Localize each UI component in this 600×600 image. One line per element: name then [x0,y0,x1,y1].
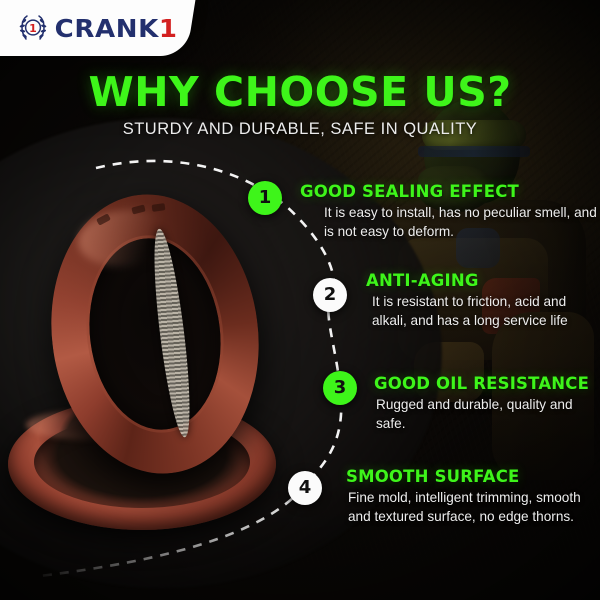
feature-item-2: 2 ANTI-AGING It is resistant to friction… [366,272,600,331]
feature-title-1: GOOD SEALING EFFECT [300,183,600,201]
feature-desc-1: It is easy to install, has no peculiar s… [300,204,600,242]
infographic-canvas: 1 CRANK1 WHY CHOOSE US? STURDY AND DURAB… [0,0,600,600]
brand-logo-banner[interactable]: 1 CRANK1 [0,0,195,56]
feature-item-1: 1 GOOD SEALING EFFECT It is easy to inst… [300,183,600,242]
laurel-wreath-number-one-icon: 1 [16,11,50,45]
brand-name-accent: 1 [159,14,178,43]
feature-badge-1: 1 [248,181,282,215]
feature-badge-3: 3 [323,371,357,405]
brand-wordmark: CRANK1 [55,16,178,41]
feature-item-3: 3 GOOD OIL RESISTANCE Rugged and durable… [374,375,600,434]
brand-name-main: CRANK [55,14,159,43]
feature-desc-3: Rugged and durable, quality and safe. [374,396,600,434]
feature-badge-4: 4 [288,471,322,505]
feature-item-4: 4 SMOOTH SURFACE Fine mold, intelligent … [346,468,600,527]
feature-desc-4: Fine mold, intelligent trimming, smooth … [346,489,600,527]
feature-list: 1 GOOD SEALING EFFECT It is easy to inst… [0,0,600,600]
feature-desc-2: It is resistant to friction, acid and al… [366,293,600,331]
svg-text:1: 1 [29,22,37,35]
feature-title-4: SMOOTH SURFACE [346,468,600,486]
feature-badge-2: 2 [313,278,347,312]
feature-title-3: GOOD OIL RESISTANCE [374,375,600,393]
feature-title-2: ANTI-AGING [366,272,600,290]
